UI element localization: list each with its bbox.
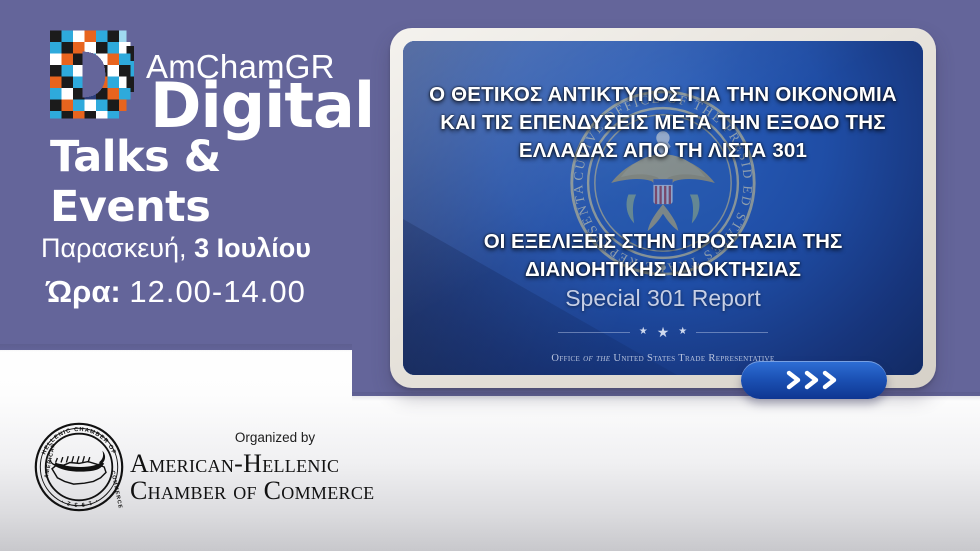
star-icon: ★: [678, 327, 687, 337]
event-time-label: Ώρα:: [46, 274, 121, 309]
star-icon: ★: [639, 327, 648, 337]
event-date-line: Παρασκευή, 3 Ιουλίου: [0, 232, 352, 264]
event-time-value: 12.00-14.00: [129, 274, 305, 309]
divider-rule-left: [558, 332, 630, 333]
event-date-value: 3 Ιουλίου: [194, 233, 311, 263]
event-datetime: Παρασκευή, 3 Ιουλίου Ώρα: 12.00-14.00: [0, 232, 352, 311]
poster-canvas: AmChamGR Digital Talks & Events Παρασκευ…: [0, 0, 980, 551]
organizer-name: American-Hellenic Chamber of Commerce: [130, 450, 422, 504]
star-icon: ★: [657, 325, 670, 339]
organized-by-label: Organized by: [150, 430, 400, 445]
brand-name-sub: Talks & Events: [50, 132, 352, 232]
brand-name-main: Digital: [150, 75, 374, 137]
screen-subheadline: ΟΙ ΕΞΕΛΙΞΕΙΣ ΣΤΗΝ ΠΡΟΣΤΑΣΙΑ ΤΗΣ ΔΙΑΝΟΗΤΙ…: [419, 228, 907, 284]
organizer-name-line2: Chamber of Commerce: [130, 477, 422, 504]
amcham-ship-seal-icon: HELLENIC CHAMBER OF · 1 9 3 2 · AMERICAN…: [34, 422, 124, 512]
footer: HELLENIC CHAMBER OF · 1 9 3 2 · AMERICAN…: [0, 396, 980, 551]
organizer-name-line1: American-Hellenic: [130, 450, 422, 477]
divider-rule-right: [696, 332, 768, 333]
event-time-line: Ώρα: 12.00-14.00: [0, 273, 352, 310]
screen-content: Ο ΘΕΤΙΚΟΣ ΑΝΤΙΚΤΥΠΟΣ ΓΙΑ ΤΗΝ ΟΙΚΟΝΟΜΙΑ Κ…: [403, 41, 923, 375]
organizer-block: HELLENIC CHAMBER OF · 1 9 3 2 · AMERICAN…: [22, 408, 422, 518]
next-button[interactable]: [741, 361, 887, 399]
screen-star-divider: ★ ★ ★: [403, 325, 923, 339]
pixel-mosaic-d-icon: [46, 26, 138, 123]
triple-chevron-right-icon: [783, 369, 845, 391]
screen-report-title: Special 301 Report: [419, 285, 907, 311]
svg-text:· 1 9 3 2 ·: · 1 9 3 2 ·: [60, 497, 99, 507]
brand-block: AmChamGR Digital Talks & Events Παρασκευ…: [0, 0, 352, 350]
tv-screen: EXECUTIVE OFFICE OF THE PRESIDENT UNITED…: [403, 41, 923, 375]
amcham-digital-logo: AmChamGR Digital: [46, 26, 336, 126]
event-day-label: Παρασκευή,: [41, 233, 187, 263]
agency-of-the-word: of the: [583, 353, 610, 364]
screen-headline: Ο ΘΕΤΙΚΟΣ ΑΝΤΙΚΤΥΠΟΣ ΓΙΑ ΤΗΝ ΟΙΚΟΝΟΜΙΑ Κ…: [419, 81, 907, 165]
tv-frame: EXECUTIVE OFFICE OF THE PRESIDENT UNITED…: [390, 28, 936, 388]
agency-office-word: Office: [551, 353, 580, 364]
